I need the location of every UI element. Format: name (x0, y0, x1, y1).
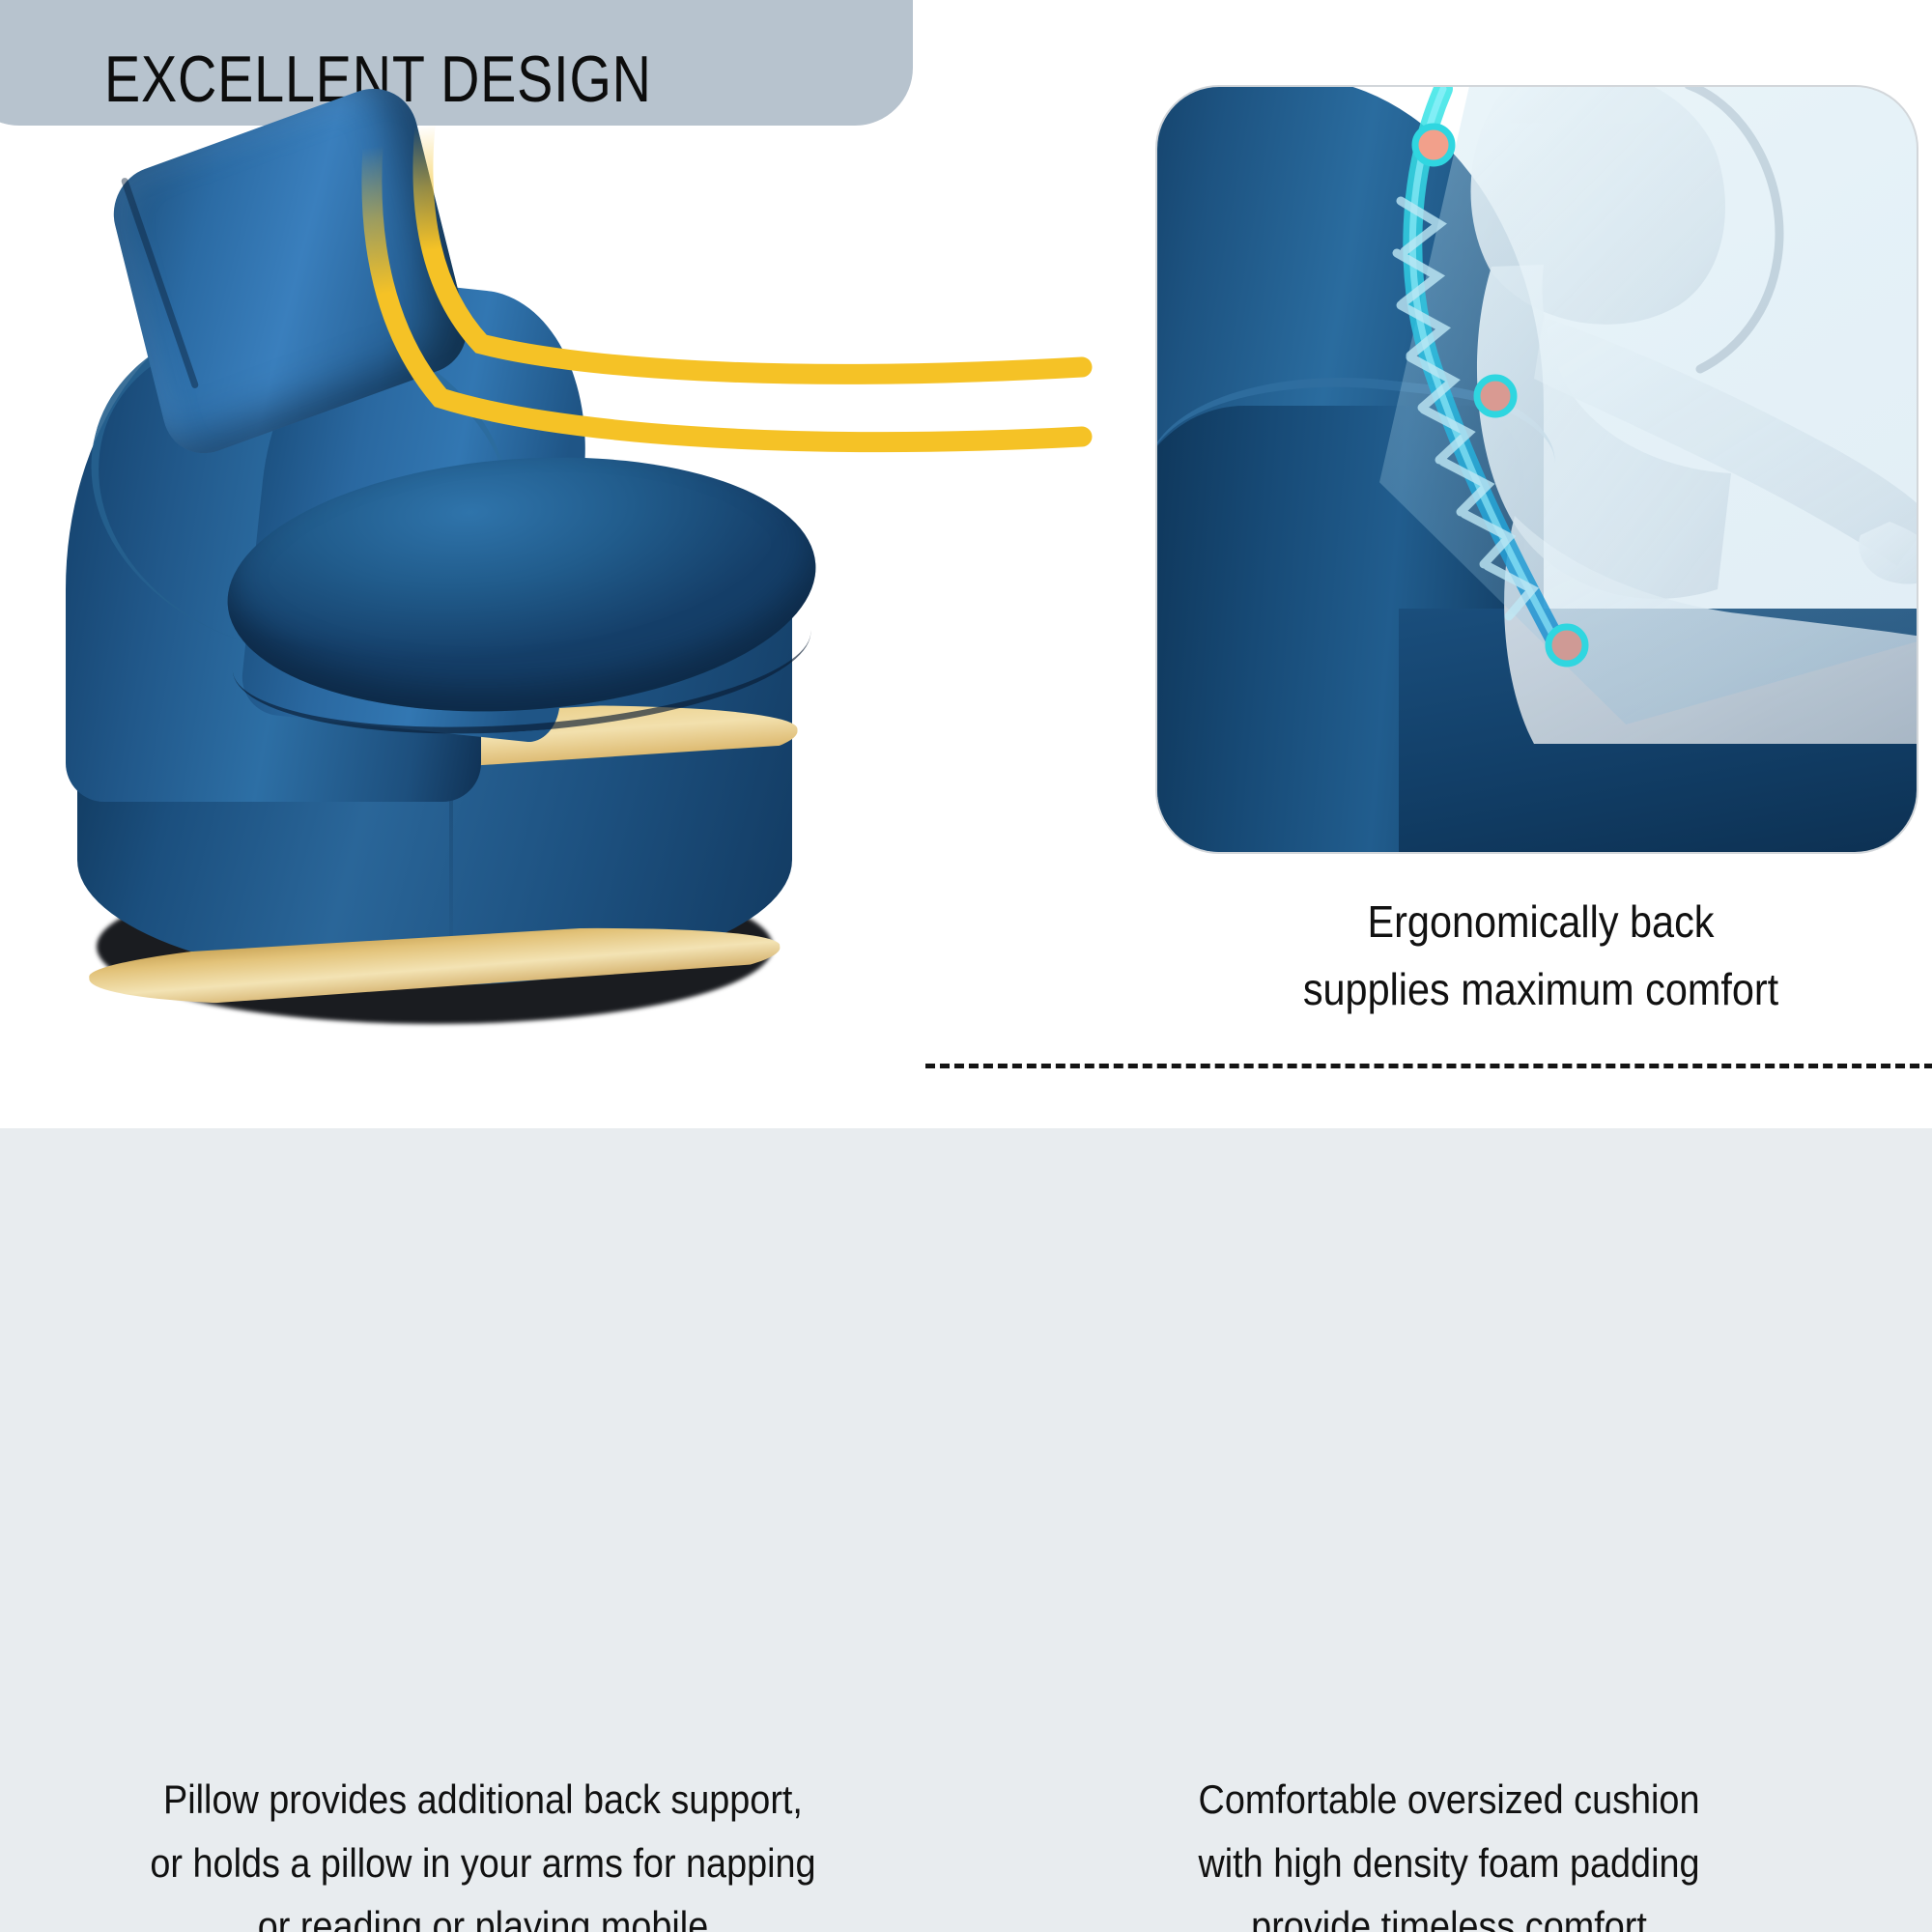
cushion-caption-line-1: Comfortable oversized cushion (1032, 1768, 1866, 1832)
dashed-divider (925, 1064, 1932, 1068)
infographic-canvas: EXCELLENT DESIGN (0, 0, 1932, 1932)
ergonomic-caption-line-2: supplies maximum comfort (1202, 956, 1880, 1024)
pillow-caption-line-3: or reading or playing mobile (66, 1894, 900, 1932)
spine-support-overlay-icon (1350, 85, 1756, 811)
pillow-caption-line-2: or holds a pillow in your arms for nappi… (66, 1832, 900, 1895)
ergonomic-curve-lines (367, 126, 1082, 531)
cushion-caption-line-2: with high density foam padding (1032, 1832, 1866, 1895)
pillow-detail-caption: Pillow provides additional back support,… (19, 1768, 947, 1932)
ergonomic-caption-line-1: Ergonomically back (1202, 889, 1880, 956)
ergonomic-caption: Ergonomically back supplies maximum comf… (1164, 889, 1918, 1024)
header-badge: EXCELLENT DESIGN (0, 0, 913, 126)
ergonomic-photo-card (1155, 85, 1918, 854)
pillow-caption-line-1: Pillow provides additional back support, (66, 1768, 900, 1832)
cushion-caption-line-3: provide timeless comfort (1032, 1894, 1866, 1932)
cushion-detail-caption: Comfortable oversized cushion with high … (985, 1768, 1913, 1932)
